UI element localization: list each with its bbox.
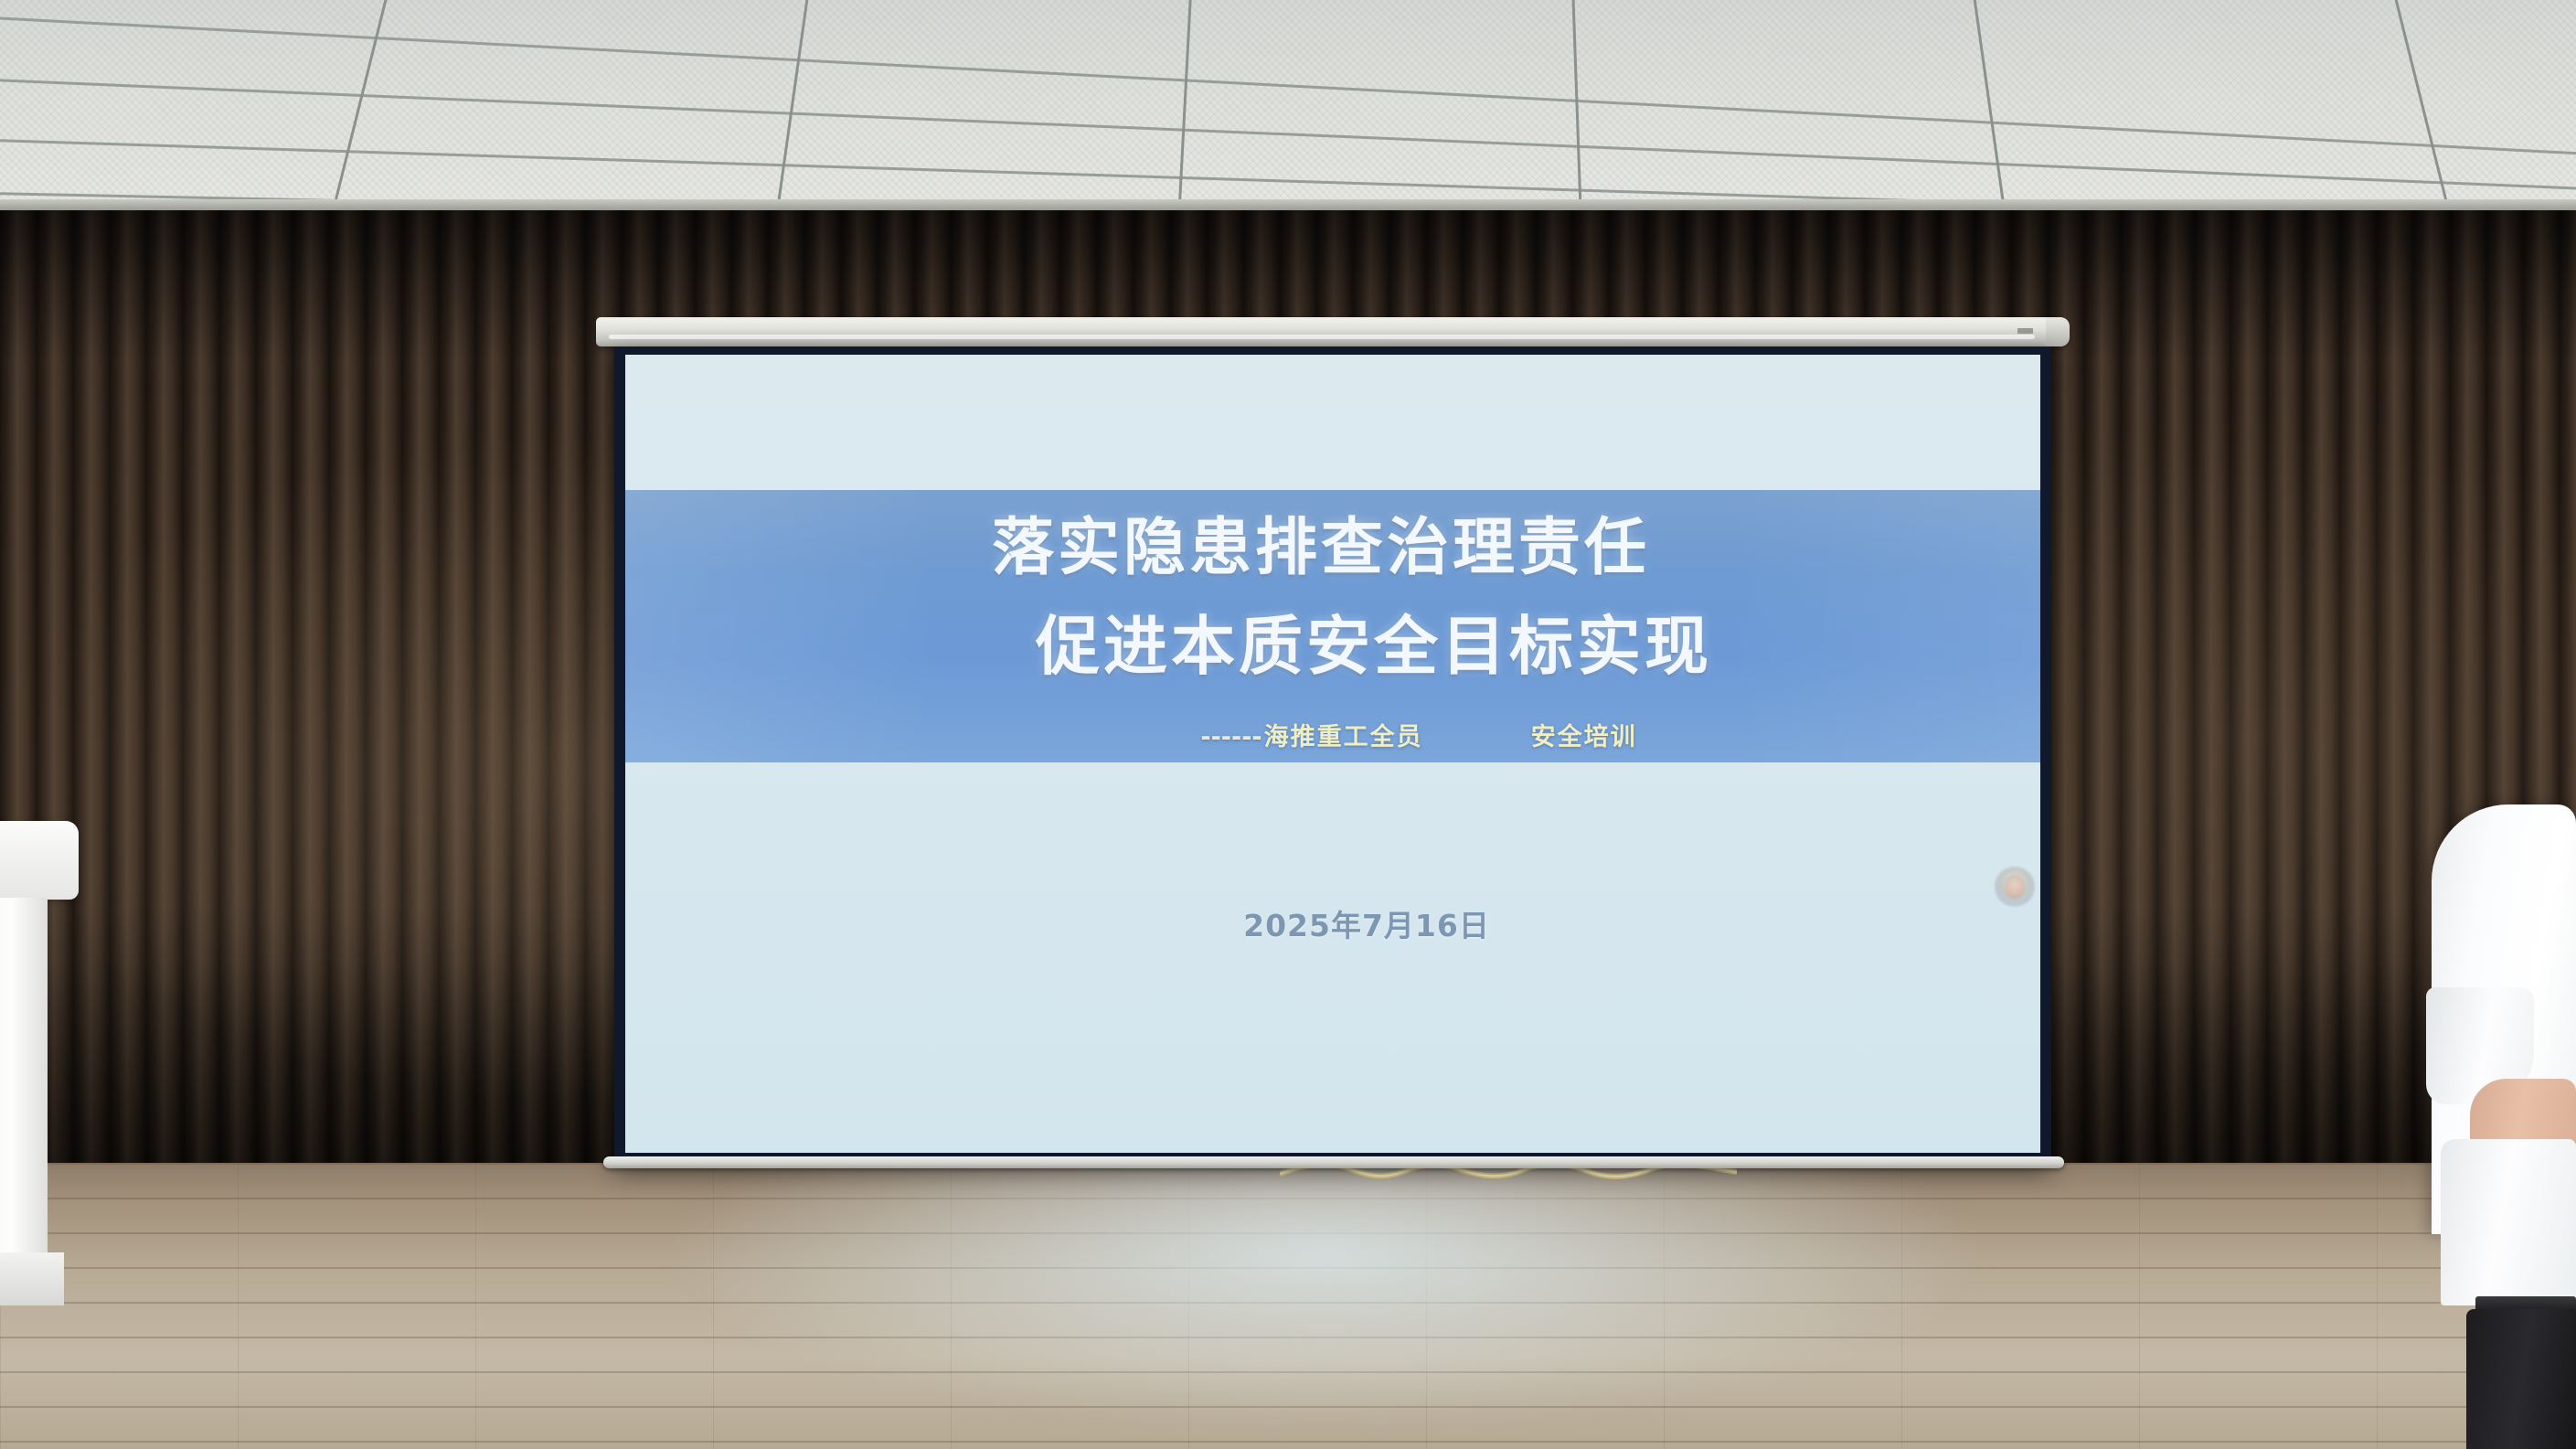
- screen-roller-housing[interactable]: [596, 317, 2068, 346]
- slide-title-line-1: 落实隐患排查治理责任: [625, 492, 2040, 580]
- slide-subtitle-row: ------ 海推重工全员 安全培训: [625, 717, 2040, 752]
- subtitle-organization: 海推重工全员: [1264, 717, 1423, 752]
- slide-title-line-2: 促进本质安全目标实现: [625, 580, 2040, 678]
- ceiling: [0, 0, 2576, 212]
- standing-person: [2419, 804, 2576, 1449]
- projection-screen-frame[interactable]: 落实隐患排查治理责任 促进本质安全目标实现 ------ 海推重工全员 安全培训…: [614, 346, 2051, 1163]
- lectern-base: [0, 1252, 64, 1305]
- subtitle-training-tag: 安全培训: [1531, 717, 1637, 752]
- screen-weight-bar[interactable]: [603, 1156, 2064, 1168]
- projection-surface: 落实隐患排查治理责任 促进本质安全目标实现 ------ 海推重工全员 安全培训…: [625, 355, 2040, 1153]
- slide-title-group: 落实隐患排查治理责任 促进本质安全目标实现: [625, 492, 2040, 678]
- presenter-avatar-icon: [1995, 867, 2035, 907]
- wood-floor: [0, 1163, 2576, 1449]
- screen-housing-slot: [609, 335, 2035, 339]
- lectern: [0, 821, 79, 1305]
- subtitle-dashes: ------: [1200, 723, 1261, 751]
- screen-housing-badge: [2017, 328, 2033, 334]
- lectern-body: [0, 898, 48, 1256]
- screen-housing-end-cap: [2046, 317, 2070, 346]
- lectern-top: [0, 821, 79, 900]
- person-trousers: [2466, 1309, 2576, 1449]
- presentation-slide: 落实隐患排查治理责任 促进本质安全目标实现 ------ 海推重工全员 安全培训…: [625, 355, 2040, 1153]
- projector-light-spill: [585, 1163, 2066, 1449]
- person-shirt-hem: [2441, 1139, 2576, 1305]
- slide-date: 2025年7月16日: [625, 901, 2040, 945]
- curtain-rail: [0, 199, 2576, 210]
- conference-room-scene: 落实隐患排查治理责任 促进本质安全目标实现 ------ 海推重工全员 安全培训…: [0, 0, 2576, 1449]
